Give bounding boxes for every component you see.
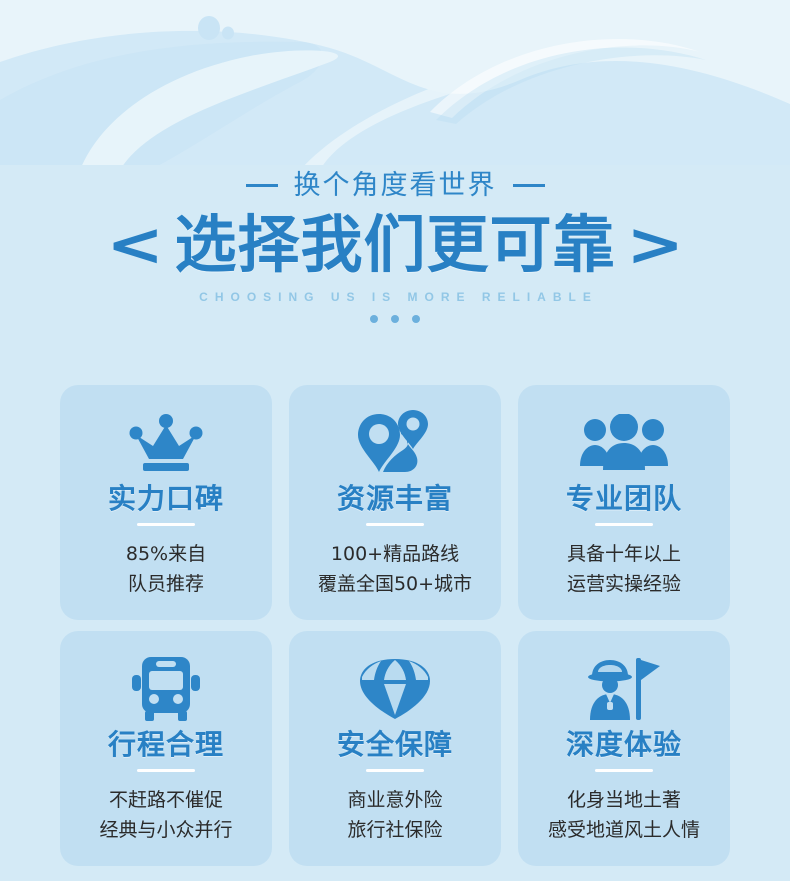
chevron-left-icon: < (106, 215, 164, 275)
team-group-icon (580, 407, 668, 479)
dot-2 (391, 315, 399, 323)
page-title: < 选择我们更可靠 > (0, 214, 790, 276)
feature-card[interactable]: 资源丰富 100+精品路线 覆盖全国50+城市 (289, 385, 501, 620)
card-divider (595, 523, 653, 526)
feature-card-grid: 实力口碑 85%来自 队员推荐 资源丰富 100+精品路线 覆盖全国50+城市 (60, 385, 730, 866)
card-desc-line-2: 队员推荐 (126, 570, 206, 599)
card-title: 资源丰富 (337, 483, 453, 515)
card-divider (137, 769, 195, 772)
card-title: 深度体验 (566, 729, 682, 761)
dot-3 (412, 315, 420, 323)
top-wave-banner (0, 0, 790, 165)
page-header: 换个角度看世界 < 选择我们更可靠 > CHOOSING US IS MORE … (0, 168, 790, 323)
feature-card[interactable]: 行程合理 不赶路不催促 经典与小众并行 (60, 631, 272, 866)
header-eyebrow: 换个角度看世界 (0, 168, 790, 202)
card-desc-line-1: 具备十年以上 (567, 540, 681, 569)
card-title: 实力口碑 (108, 483, 224, 515)
dot-1 (370, 315, 378, 323)
card-title: 安全保障 (337, 729, 453, 761)
card-divider (366, 769, 424, 772)
card-desc-line-1: 化身当地土著 (548, 786, 700, 815)
card-description: 商业意外险 旅行社保险 (347, 786, 442, 845)
card-description: 100+精品路线 覆盖全国50+城市 (318, 540, 472, 599)
card-divider (595, 769, 653, 772)
card-title: 行程合理 (108, 729, 224, 761)
bus-icon (132, 653, 200, 725)
guide-with-flag-icon (586, 653, 662, 725)
dot-separator (0, 315, 790, 323)
card-description: 化身当地土著 感受地道风土人情 (548, 786, 700, 845)
feature-card[interactable]: 专业团队 具备十年以上 运营实操经验 (518, 385, 730, 620)
feature-card[interactable]: 实力口碑 85%来自 队员推荐 (60, 385, 272, 620)
crown-icon (129, 407, 203, 479)
card-desc-line-1: 85%来自 (126, 540, 206, 569)
diamond-icon (360, 653, 430, 725)
map-route-pin-icon (357, 407, 433, 479)
card-divider (137, 523, 195, 526)
card-desc-line-1: 100+精品路线 (318, 540, 472, 569)
card-desc-line-1: 商业意外险 (347, 786, 442, 815)
card-desc-line-2: 经典与小众并行 (99, 816, 232, 845)
card-desc-line-1: 不赶路不催促 (99, 786, 232, 815)
feature-card[interactable]: 安全保障 商业意外险 旅行社保险 (289, 631, 501, 866)
card-description: 85%来自 队员推荐 (126, 540, 206, 599)
card-desc-line-2: 感受地道风土人情 (548, 816, 700, 845)
eyebrow-text: 换个角度看世界 (294, 172, 497, 199)
card-desc-line-2: 旅行社保险 (347, 816, 442, 845)
card-divider (366, 523, 424, 526)
feature-card[interactable]: 深度体验 化身当地土著 感受地道风土人情 (518, 631, 730, 866)
eyebrow-rule-left (246, 184, 278, 187)
page-subtitle: CHOOSING US IS MORE RELIABLE (0, 290, 790, 304)
card-desc-line-2: 运营实操经验 (567, 570, 681, 599)
eyebrow-rule-right (513, 184, 545, 187)
card-desc-line-2: 覆盖全国50+城市 (318, 570, 472, 599)
card-description: 具备十年以上 运营实操经验 (567, 540, 681, 599)
chevron-right-icon: > (626, 215, 684, 275)
card-title: 专业团队 (566, 483, 682, 515)
card-description: 不赶路不催促 经典与小众并行 (99, 786, 232, 845)
page-title-text: 选择我们更可靠 (174, 214, 615, 276)
